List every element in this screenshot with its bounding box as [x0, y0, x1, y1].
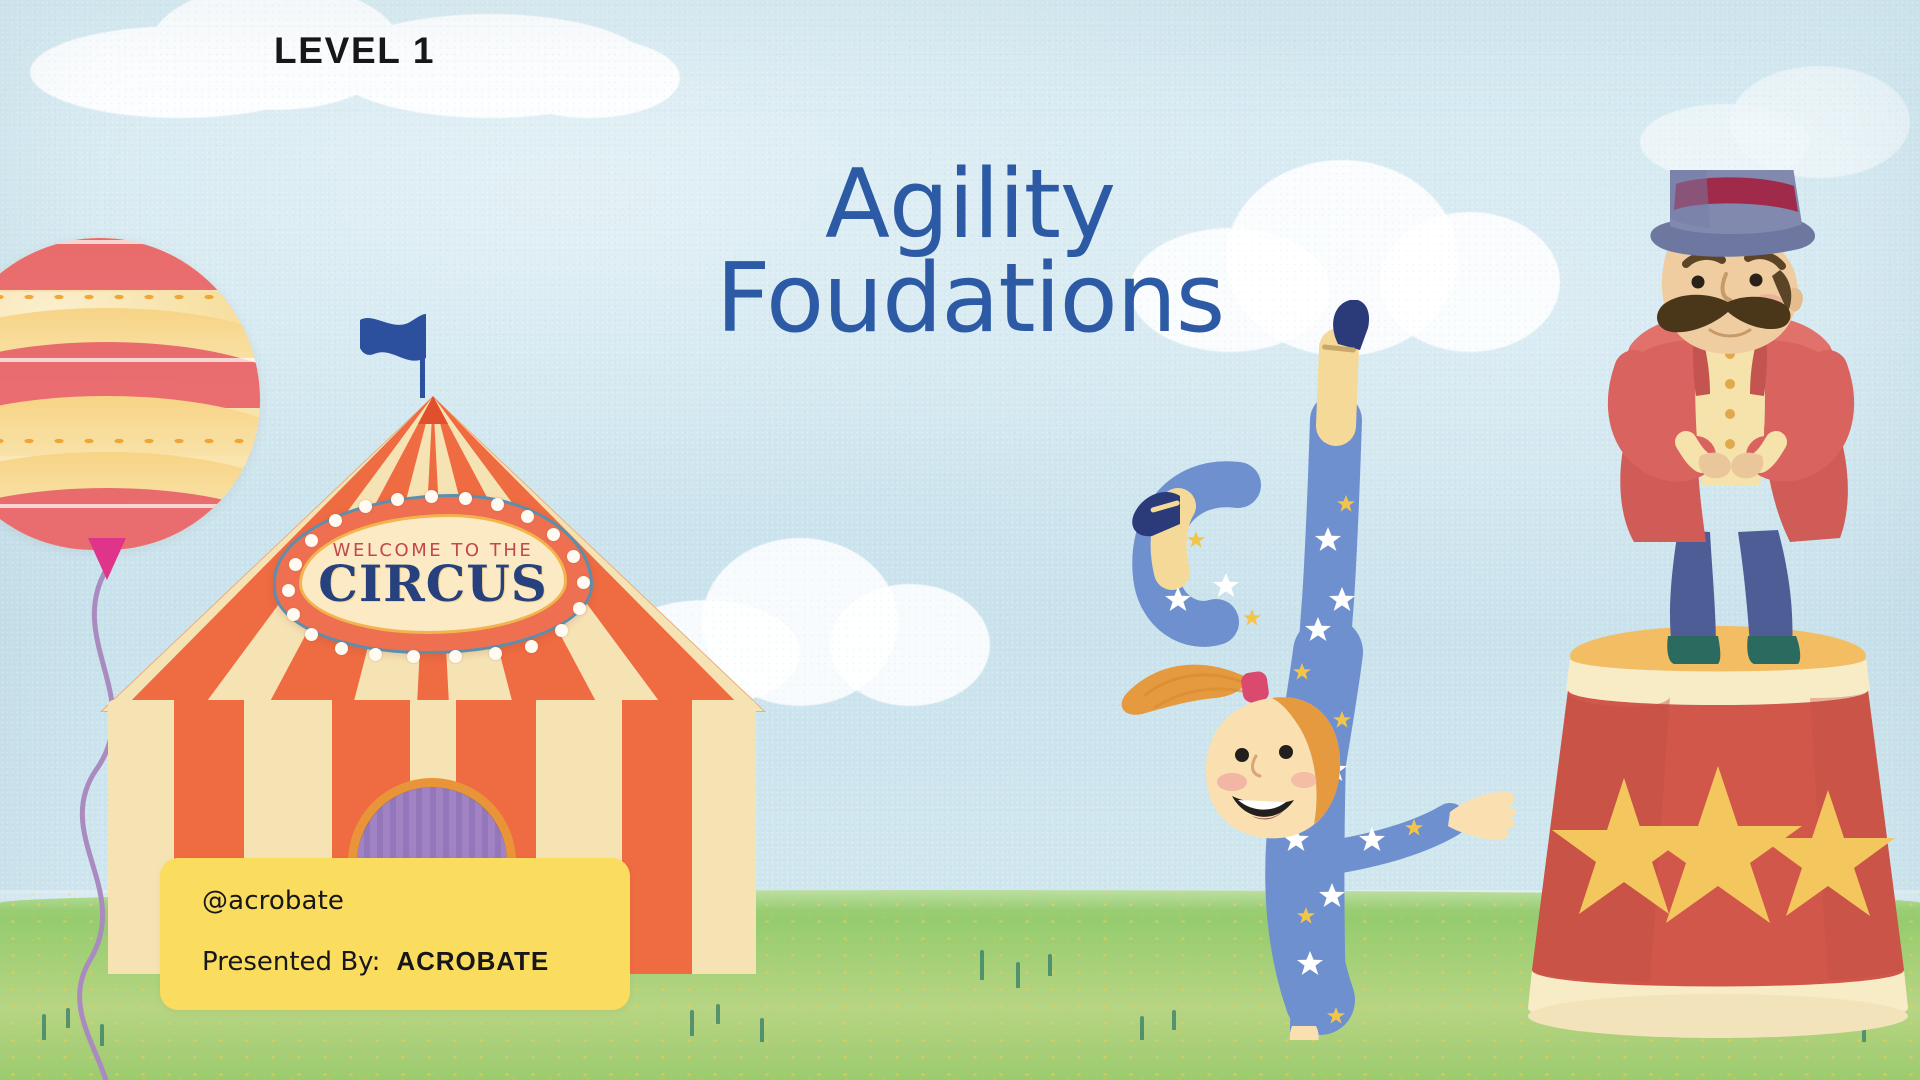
- ringmaster-on-podium: [1510, 170, 1920, 1080]
- flag-icon: [358, 312, 430, 364]
- ringmaster-figure: [1620, 170, 1848, 664]
- tent-stripe: [622, 700, 692, 974]
- grass-blade: [760, 1018, 764, 1042]
- title-line-2: Foudations: [620, 252, 1320, 346]
- presented-by-row: Presented By: ACROBATE: [202, 946, 630, 977]
- slide-canvas: WELCOME TO THE CIRCUS: [0, 0, 1920, 1080]
- sign-circus-text: CIRCUS: [318, 559, 548, 609]
- tent-stripe: [692, 700, 756, 974]
- grass-blade: [690, 1010, 694, 1036]
- presenter-handle: @acrobate: [202, 886, 630, 916]
- grass-blade: [716, 1004, 720, 1024]
- page-title: Agility Foudations: [620, 158, 1320, 346]
- presenter-card: @acrobate Presented By: ACROBATE: [160, 858, 630, 1010]
- welcome-sign: WELCOME TO THE CIRCUS: [273, 494, 593, 654]
- level-badge: LEVEL 1: [274, 30, 435, 72]
- presented-by-label: Presented By:: [202, 947, 380, 977]
- acrobat-girl-handstand: [1120, 300, 1550, 1040]
- presenter-name: ACROBATE: [396, 946, 549, 977]
- grass-blade: [1016, 962, 1020, 988]
- title-line-1: Agility: [620, 158, 1320, 252]
- podium: [1528, 626, 1908, 1038]
- grass-blade: [1048, 954, 1052, 976]
- grass-blade: [980, 950, 984, 980]
- cloud-icon: [1640, 60, 1920, 180]
